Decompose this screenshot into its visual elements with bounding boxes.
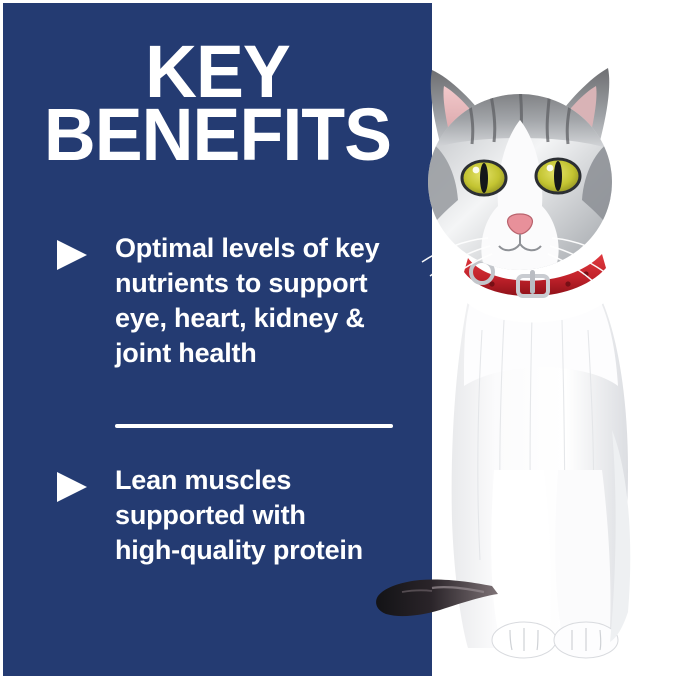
list-item: Optimal levels of key nutrients to suppo… — [3, 231, 432, 371]
benefits-list: Optimal levels of key nutrients to suppo… — [3, 231, 432, 568]
triangle-bullet-icon — [57, 240, 87, 270]
cat-body — [452, 277, 631, 658]
left-eye — [462, 161, 506, 195]
cat-head — [422, 68, 618, 286]
cat-photo — [432, 0, 679, 679]
key-benefits-panel: KEY BENEFITS Optimal levels of key nutri… — [3, 3, 432, 676]
page-title: KEY BENEFITS — [9, 41, 425, 167]
list-item: Lean muscles supported with high-quality… — [3, 463, 432, 568]
cat-image — [372, 0, 679, 679]
right-eye — [536, 159, 580, 193]
cat-illustration — [372, 0, 679, 679]
section-divider — [115, 424, 393, 428]
benefit-text: Lean muscles supported with high-quality… — [115, 463, 363, 568]
product-feature-graphic: KEY BENEFITS Optimal levels of key nutri… — [0, 0, 679, 679]
benefit-text: Optimal levels of key nutrients to suppo… — [115, 231, 379, 371]
triangle-bullet-icon — [57, 472, 87, 502]
